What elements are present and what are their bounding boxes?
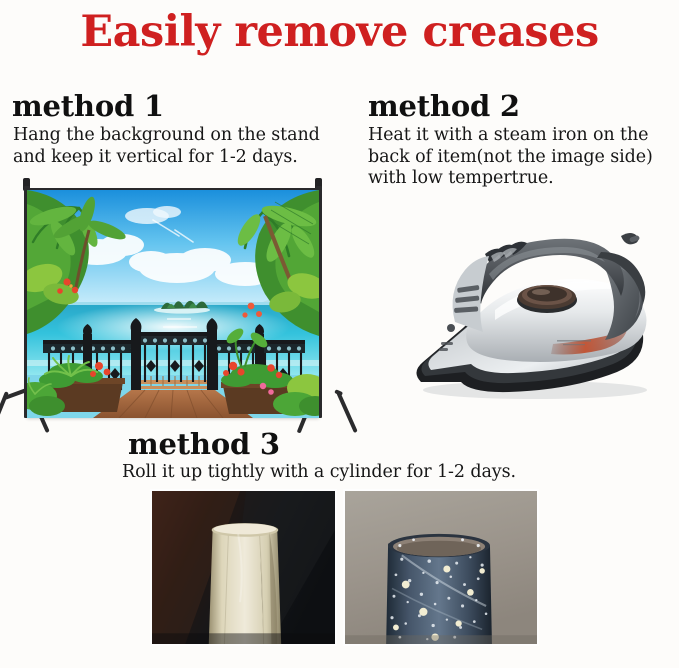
- method-2-body: Heat it with a steam iron on the back of…: [368, 125, 678, 190]
- method-1-body: Hang the background on the stand and kee…: [13, 125, 343, 168]
- method-3-body: Roll it up tightly with a cylinder for 1…: [122, 462, 572, 484]
- method-3-heading: method 3: [128, 428, 280, 460]
- rolled-cylinder-photo-right: [343, 489, 539, 646]
- stand-leg-right-b: [336, 391, 358, 433]
- page-title: Easily remove creases: [0, 6, 679, 58]
- backdrop-stand-illustration: [0, 176, 345, 454]
- rolled-cylinder-photo-left: [150, 489, 337, 646]
- method-2-heading: method 2: [368, 90, 520, 122]
- steam-iron-illustration: [385, 212, 675, 412]
- infographic-page: Easily remove creases method 1 Hang the …: [0, 0, 679, 668]
- tropical-backdrop-cloth: [27, 190, 319, 418]
- method-1-heading: method 1: [12, 90, 164, 122]
- stand-leg-right-c: [334, 389, 343, 396]
